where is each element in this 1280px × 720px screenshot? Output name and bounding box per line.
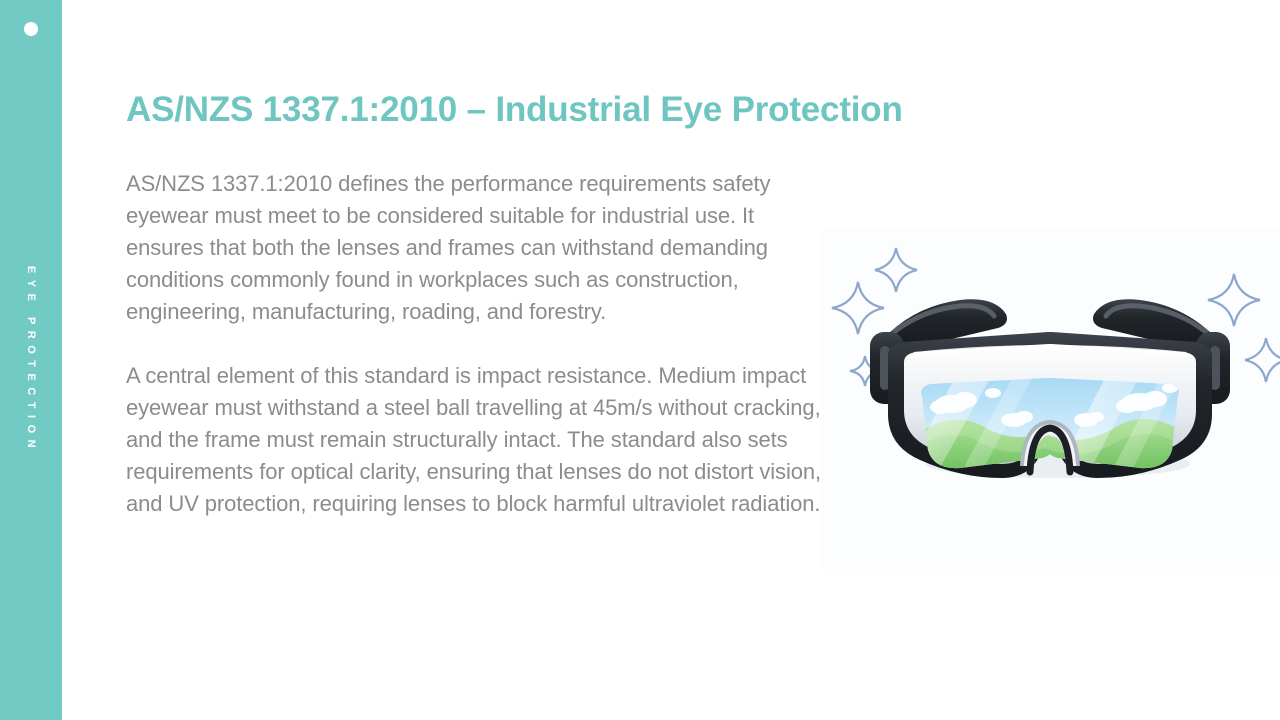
sidebar-label-wrap: EYE PROTECTION: [0, 0, 62, 720]
content-area: AS/NZS 1337.1:2010 – Industrial Eye Prot…: [62, 0, 1280, 720]
sidebar-vertical-label: EYE PROTECTION: [25, 266, 37, 454]
slide-root: EYE PROTECTION AS/NZS 1337.1:2010 – Indu…: [0, 0, 1280, 720]
sidebar: EYE PROTECTION: [0, 0, 62, 720]
body-text-column: AS/NZS 1337.1:2010 defines the performan…: [126, 168, 826, 520]
body-paragraph-2: A central element of this standard is im…: [126, 360, 826, 520]
safety-goggles-illustration: [810, 228, 1280, 570]
body-paragraph-1: AS/NZS 1337.1:2010 defines the performan…: [126, 168, 826, 328]
page-title: AS/NZS 1337.1:2010 – Industrial Eye Prot…: [126, 90, 1166, 130]
